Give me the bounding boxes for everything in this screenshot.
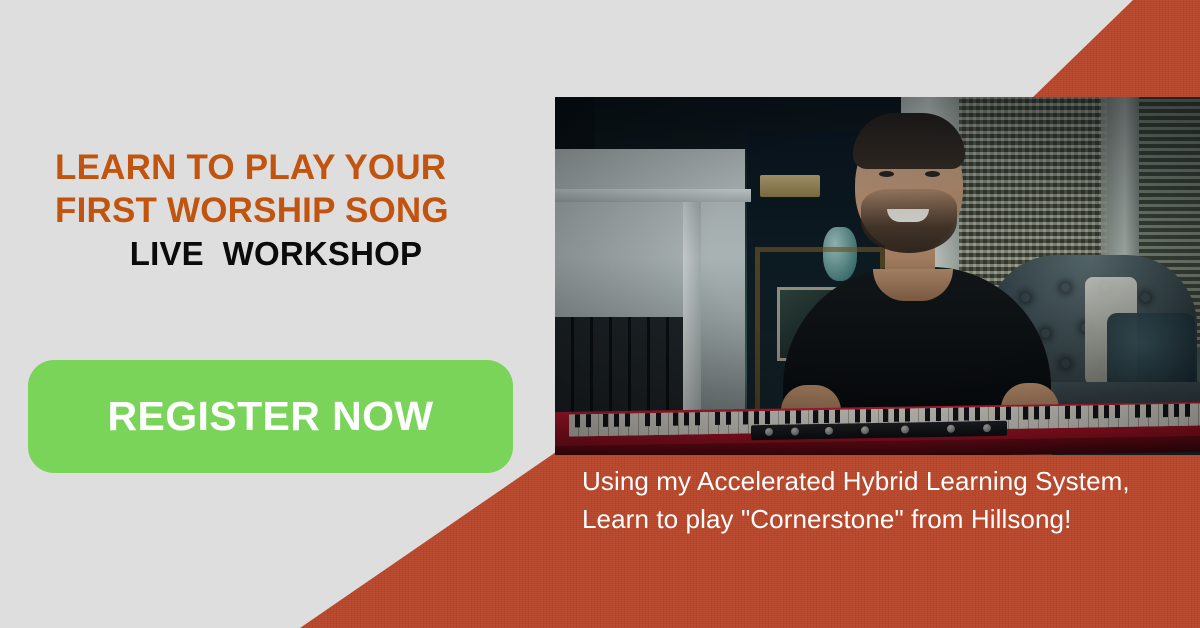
photo-scene	[555, 97, 1200, 455]
piano-knob	[983, 424, 991, 432]
workshop-photo[interactable]	[555, 97, 1200, 455]
cabinet-lamp	[760, 175, 820, 197]
person-eye-left	[879, 171, 894, 177]
piano-knob	[947, 425, 955, 433]
piano-knob	[765, 428, 773, 436]
couch-tuft	[1061, 359, 1070, 368]
headline-line-1: LEARN TO PLAY YOUR	[55, 146, 525, 189]
person-hair	[853, 113, 965, 169]
piano-knob	[791, 427, 799, 435]
couch-tuft	[1141, 293, 1150, 302]
couch-tuft	[1041, 329, 1050, 338]
headline-subline: LIVE WORKSHOP	[55, 232, 525, 276]
couch-tuft	[1021, 293, 1030, 302]
register-now-button[interactable]: REGISTER NOW	[28, 360, 513, 473]
mantel-column	[683, 202, 701, 415]
piano-knob	[825, 427, 833, 435]
caption-text: Using my Accelerated Hybrid Learning Sys…	[582, 462, 1142, 538]
red-stage-piano	[555, 397, 1200, 455]
headline-block: LEARN TO PLAY YOUR FIRST WORSHIP SONG LI…	[55, 146, 525, 276]
headline-line-2: FIRST WORSHIP SONG	[55, 189, 525, 232]
red-diagonal-top-right	[1030, 0, 1200, 100]
piano-knob	[861, 426, 869, 434]
promo-banner: LEARN TO PLAY YOUR FIRST WORSHIP SONG LI…	[0, 0, 1200, 628]
piano-knob	[901, 425, 909, 433]
left-content-column: LEARN TO PLAY YOUR FIRST WORSHIP SONG LI…	[0, 0, 540, 628]
person-smile	[887, 209, 929, 222]
mantel-shelf	[555, 189, 751, 202]
couch-tuft	[1061, 283, 1070, 292]
person-eye-right	[925, 171, 940, 177]
